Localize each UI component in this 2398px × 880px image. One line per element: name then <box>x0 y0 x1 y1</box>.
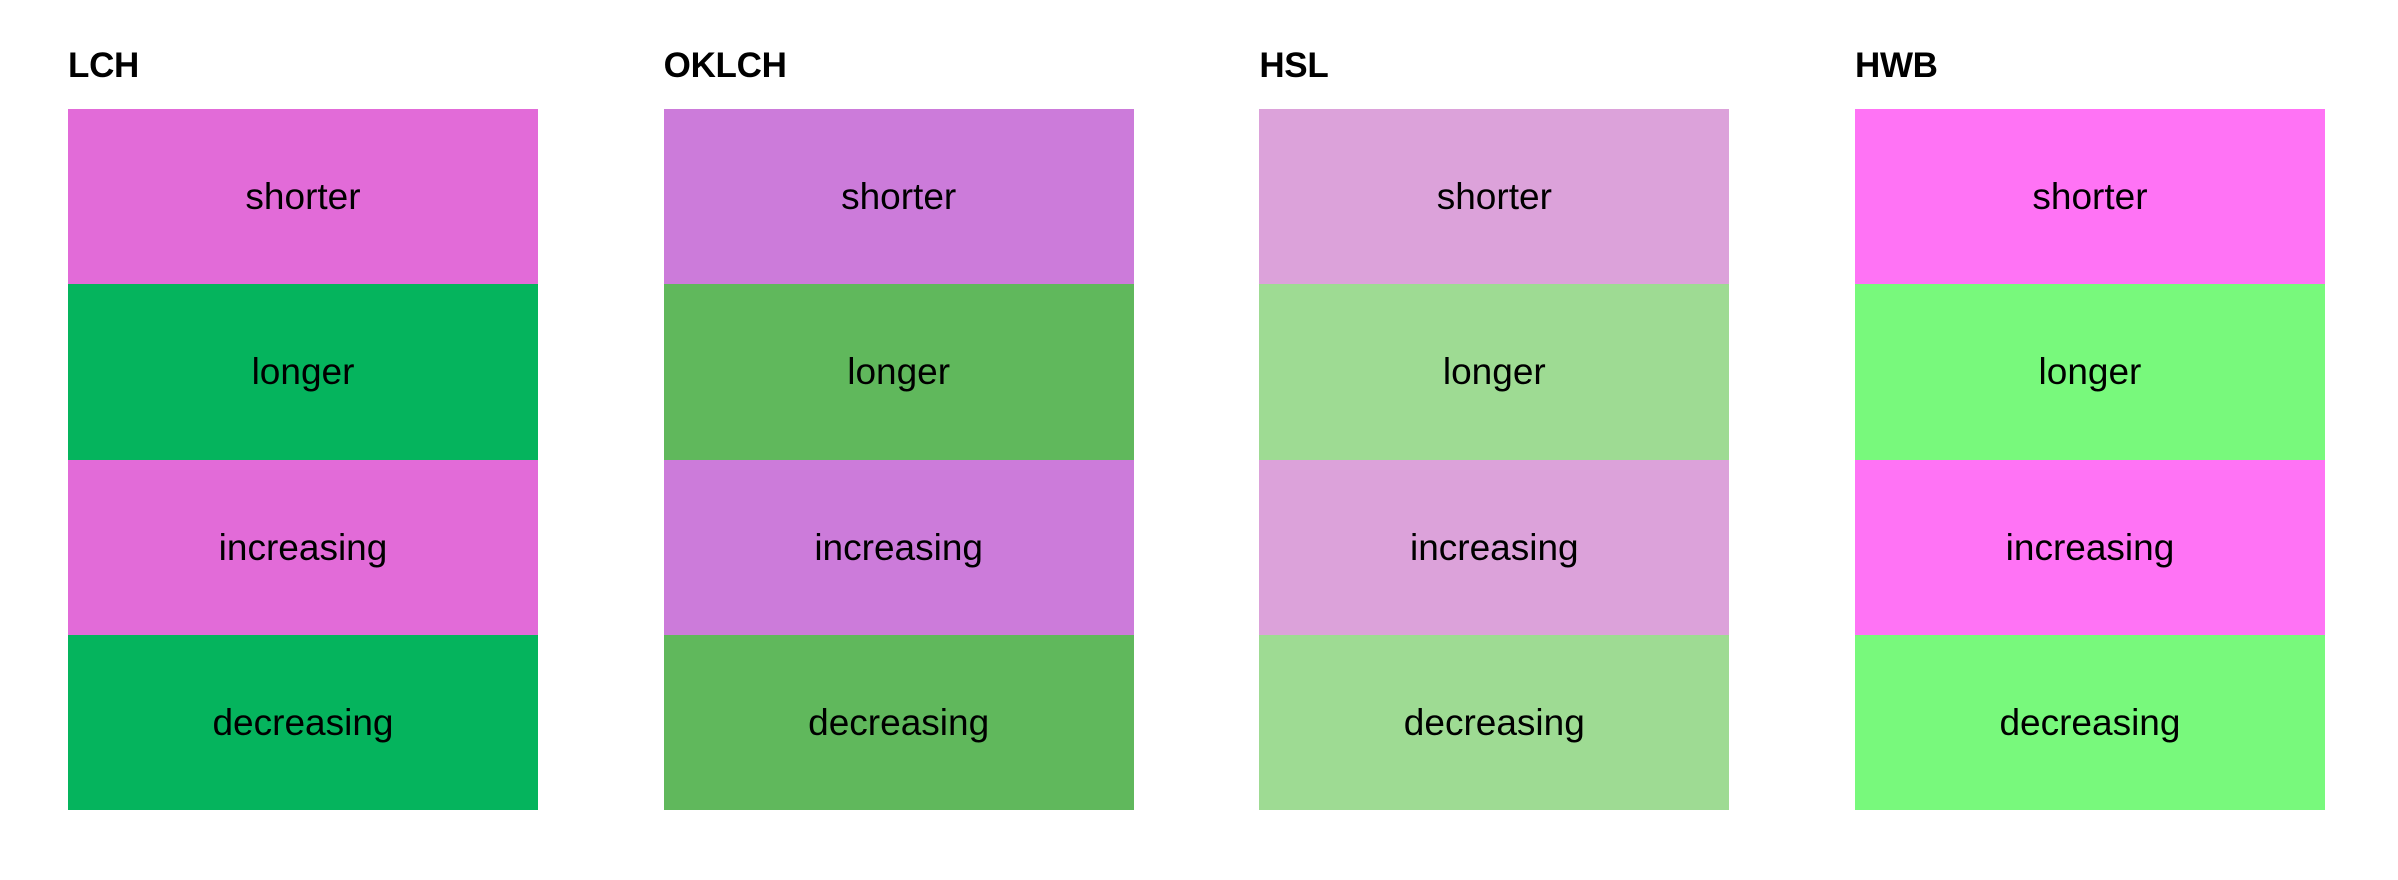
colorspace-column-hsl: HSL shorter longer increasing decreasing <box>1259 48 1729 810</box>
column-title: LCH <box>68 48 538 85</box>
gradient-band-increasing: increasing <box>68 460 538 635</box>
gradient-band-increasing: increasing <box>1259 460 1729 635</box>
band-label: shorter <box>2032 178 2147 215</box>
gradient-band-increasing: increasing <box>1855 460 2325 635</box>
gradient-band-list: shorter longer increasing decreasing <box>68 109 538 810</box>
gradient-band-list: shorter longer increasing decreasing <box>1855 109 2325 810</box>
colorspace-column-group: LCH shorter longer increasing decreasing… <box>68 48 2325 818</box>
gradient-band-longer: longer <box>1855 284 2325 459</box>
band-label: decreasing <box>1999 704 2180 741</box>
gradient-band-shorter: shorter <box>1259 109 1729 284</box>
colorspace-column-lch: LCH shorter longer increasing decreasing <box>68 48 538 810</box>
band-label: longer <box>1443 353 1546 390</box>
gradient-band-decreasing: decreasing <box>1259 635 1729 810</box>
band-label: increasing <box>2006 529 2175 566</box>
column-title: HWB <box>1855 48 2325 85</box>
band-label: decreasing <box>212 704 393 741</box>
band-label: decreasing <box>808 704 989 741</box>
band-label: shorter <box>841 178 956 215</box>
band-label: shorter <box>1437 178 1552 215</box>
gradient-band-longer: longer <box>68 284 538 459</box>
gradient-band-longer: longer <box>1259 284 1729 459</box>
band-label: longer <box>252 353 355 390</box>
band-label: increasing <box>1410 529 1579 566</box>
colorspace-column-hwb: HWB shorter longer increasing decreasing <box>1855 48 2325 810</box>
color-interpolation-comparison: LCH shorter longer increasing decreasing… <box>0 0 2398 880</box>
gradient-band-increasing: increasing <box>664 460 1134 635</box>
column-title: HSL <box>1259 48 1729 85</box>
gradient-band-shorter: shorter <box>1855 109 2325 284</box>
band-label: increasing <box>219 529 388 566</box>
band-label: longer <box>2039 353 2142 390</box>
gradient-band-shorter: shorter <box>68 109 538 284</box>
gradient-band-decreasing: decreasing <box>664 635 1134 810</box>
band-label: longer <box>847 353 950 390</box>
band-label: shorter <box>245 178 360 215</box>
gradient-band-list: shorter longer increasing decreasing <box>1259 109 1729 810</box>
gradient-band-decreasing: decreasing <box>1855 635 2325 810</box>
gradient-band-decreasing: decreasing <box>68 635 538 810</box>
band-label: increasing <box>814 529 983 566</box>
band-label: decreasing <box>1404 704 1585 741</box>
gradient-band-longer: longer <box>664 284 1134 459</box>
column-title: OKLCH <box>664 48 1134 85</box>
colorspace-column-oklch: OKLCH shorter longer increasing decreasi… <box>664 48 1134 810</box>
gradient-band-shorter: shorter <box>664 109 1134 284</box>
gradient-band-list: shorter longer increasing decreasing <box>664 109 1134 810</box>
